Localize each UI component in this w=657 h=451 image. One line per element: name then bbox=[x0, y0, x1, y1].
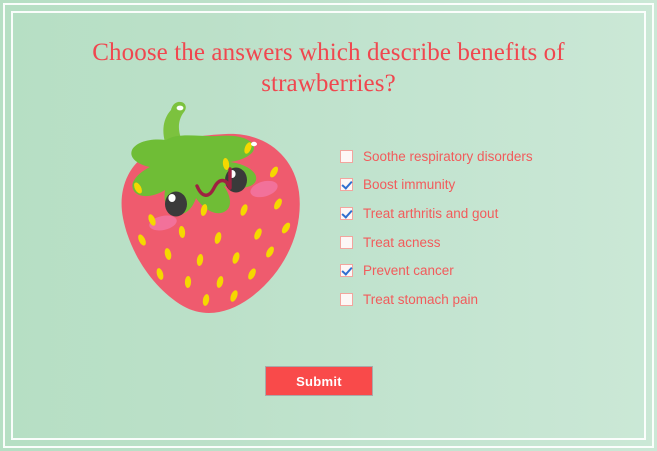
answer-label: Boost immunity bbox=[363, 177, 455, 192]
checkbox-prevent-cancer[interactable] bbox=[340, 264, 353, 277]
left-eye-highlight bbox=[168, 194, 175, 202]
answer-label: Prevent cancer bbox=[363, 263, 454, 278]
answers-list: Soothe respiratory disorders Boost immun… bbox=[340, 142, 590, 314]
answer-row[interactable]: Prevent cancer bbox=[340, 256, 590, 285]
quiz-page: Choose the answers which describe benefi… bbox=[0, 0, 657, 451]
stem-highlight bbox=[177, 106, 184, 111]
answer-row[interactable]: Boost immunity bbox=[340, 171, 590, 200]
answer-row[interactable]: Treat acness bbox=[340, 228, 590, 257]
left-eye bbox=[165, 192, 187, 217]
submit-button[interactable]: Submit bbox=[265, 366, 373, 396]
checkbox-boost-immunity[interactable] bbox=[340, 178, 353, 191]
body-highlight bbox=[251, 142, 257, 146]
checkbox-treat-stomach-pain[interactable] bbox=[340, 293, 353, 306]
checkbox-soothe-respiratory-disorders[interactable] bbox=[340, 150, 353, 163]
answer-row[interactable]: Soothe respiratory disorders bbox=[340, 142, 590, 171]
answer-label: Treat arthritis and gout bbox=[363, 206, 498, 221]
answer-row[interactable]: Treat arthritis and gout bbox=[340, 199, 590, 228]
answer-row[interactable]: Treat stomach pain bbox=[340, 285, 590, 314]
checkbox-treat-acness[interactable] bbox=[340, 236, 353, 249]
answer-label: Soothe respiratory disorders bbox=[363, 149, 533, 164]
checkbox-treat-arthritis-and-gout[interactable] bbox=[340, 207, 353, 220]
strawberry-illustration bbox=[108, 92, 313, 320]
page-title: Choose the answers which describe benefi… bbox=[60, 37, 597, 99]
answer-label: Treat acness bbox=[363, 235, 441, 250]
answer-label: Treat stomach pain bbox=[363, 292, 478, 307]
